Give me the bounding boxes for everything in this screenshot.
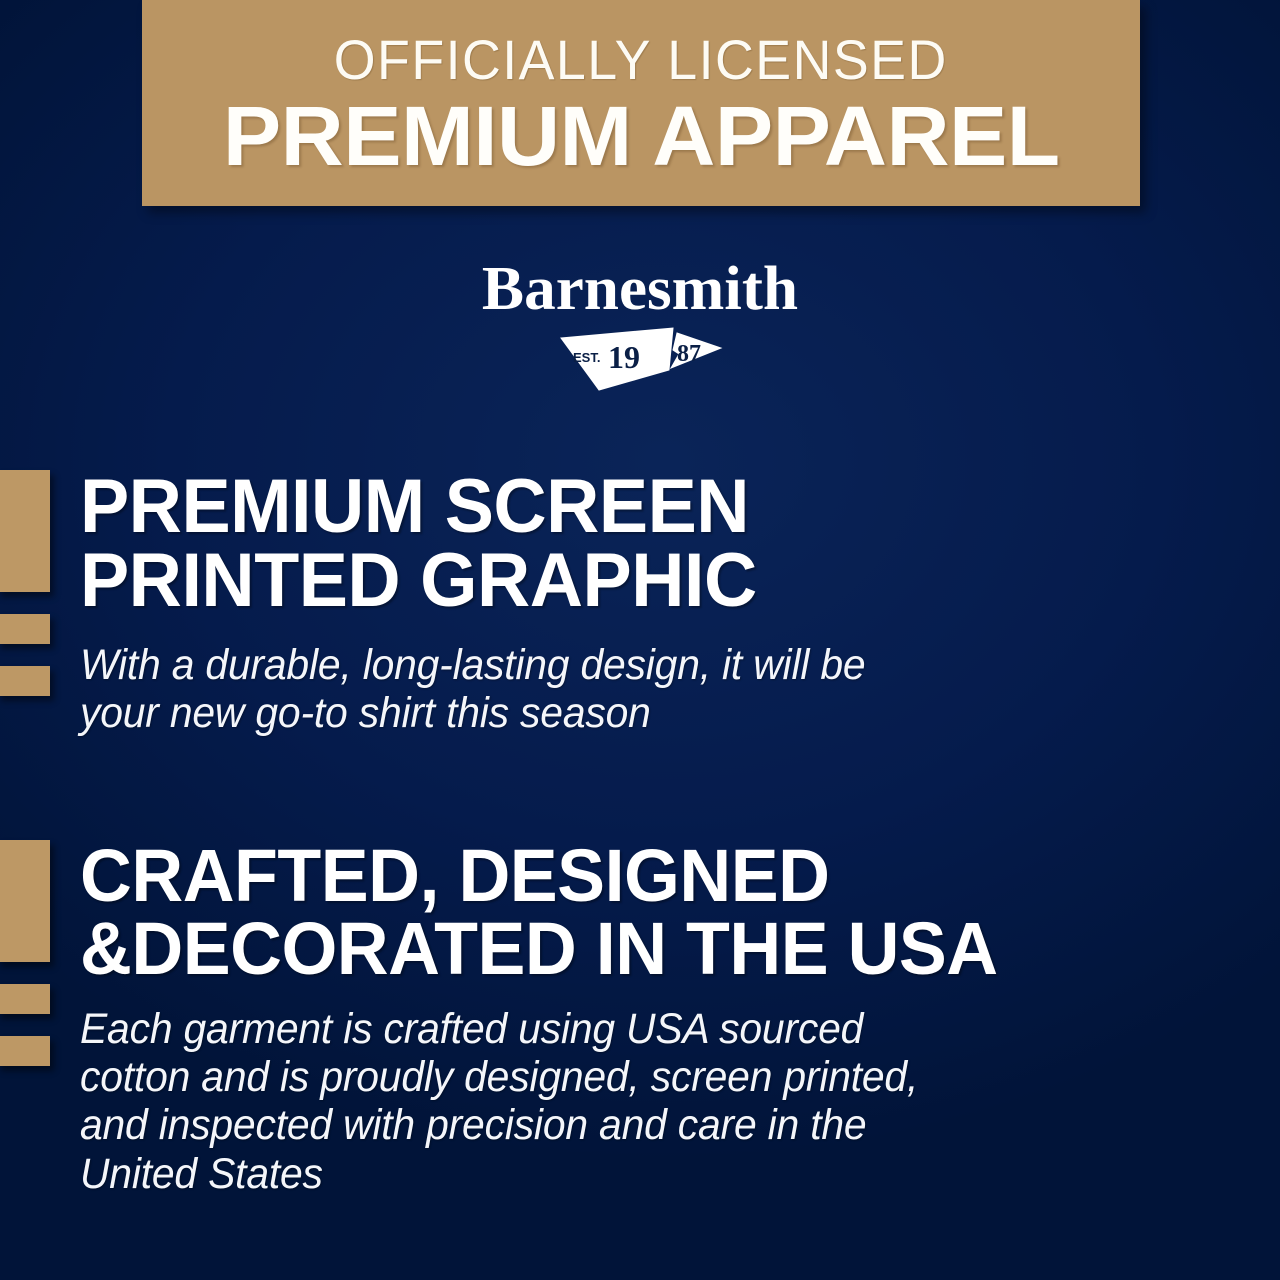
banner-eyebrow-text: OFFICIALLY LICENSED [334,32,948,88]
pennant-est-label: EST. [573,350,600,365]
feature-subtext: Each garment is crafted using USA source… [80,1005,1211,1198]
promo-banner: OFFICIALLY LICENSED PREMIUM APPAREL [142,0,1140,206]
accent-bar-small [0,614,50,644]
accent-bar-small [0,1036,50,1066]
pennant-flag-icon: EST. 19 87 [555,324,725,396]
accent-bar-small [0,666,50,696]
accent-bars-1 [0,470,60,696]
pennant-year-second: 87 [677,341,701,367]
feature-headline: CRAFTED, DESIGNED &DECORATED IN THE USA [80,840,1234,985]
feature-block-2: CRAFTED, DESIGNED &DECORATED IN THE USA … [0,840,1280,1198]
banner-title-text: PREMIUM APPAREL [223,94,1060,180]
feature-content-1: PREMIUM SCREEN PRINTED GRAPHIC With a du… [80,470,1270,737]
accent-bars-2 [0,840,60,1066]
brand-wordmark: Barnesmith [482,258,798,320]
accent-bar-large [0,470,50,592]
feature-subtext: With a durable, long-lasting design, it … [80,641,1211,737]
feature-block-1: PREMIUM SCREEN PRINTED GRAPHIC With a du… [0,470,1280,737]
pennant-year-first: 19 [608,339,640,375]
feature-headline: PREMIUM SCREEN PRINTED GRAPHIC [80,470,1234,619]
accent-bar-small [0,984,50,1014]
infographic-page: OFFICIALLY LICENSED PREMIUM APPAREL Barn… [0,0,1280,1280]
accent-bar-large [0,840,50,962]
pennant-container: EST. 19 87 [0,326,1280,398]
brand-logo: Barnesmith EST. 19 87 [0,258,1280,398]
feature-content-2: CRAFTED, DESIGNED &DECORATED IN THE USA … [80,840,1270,1198]
